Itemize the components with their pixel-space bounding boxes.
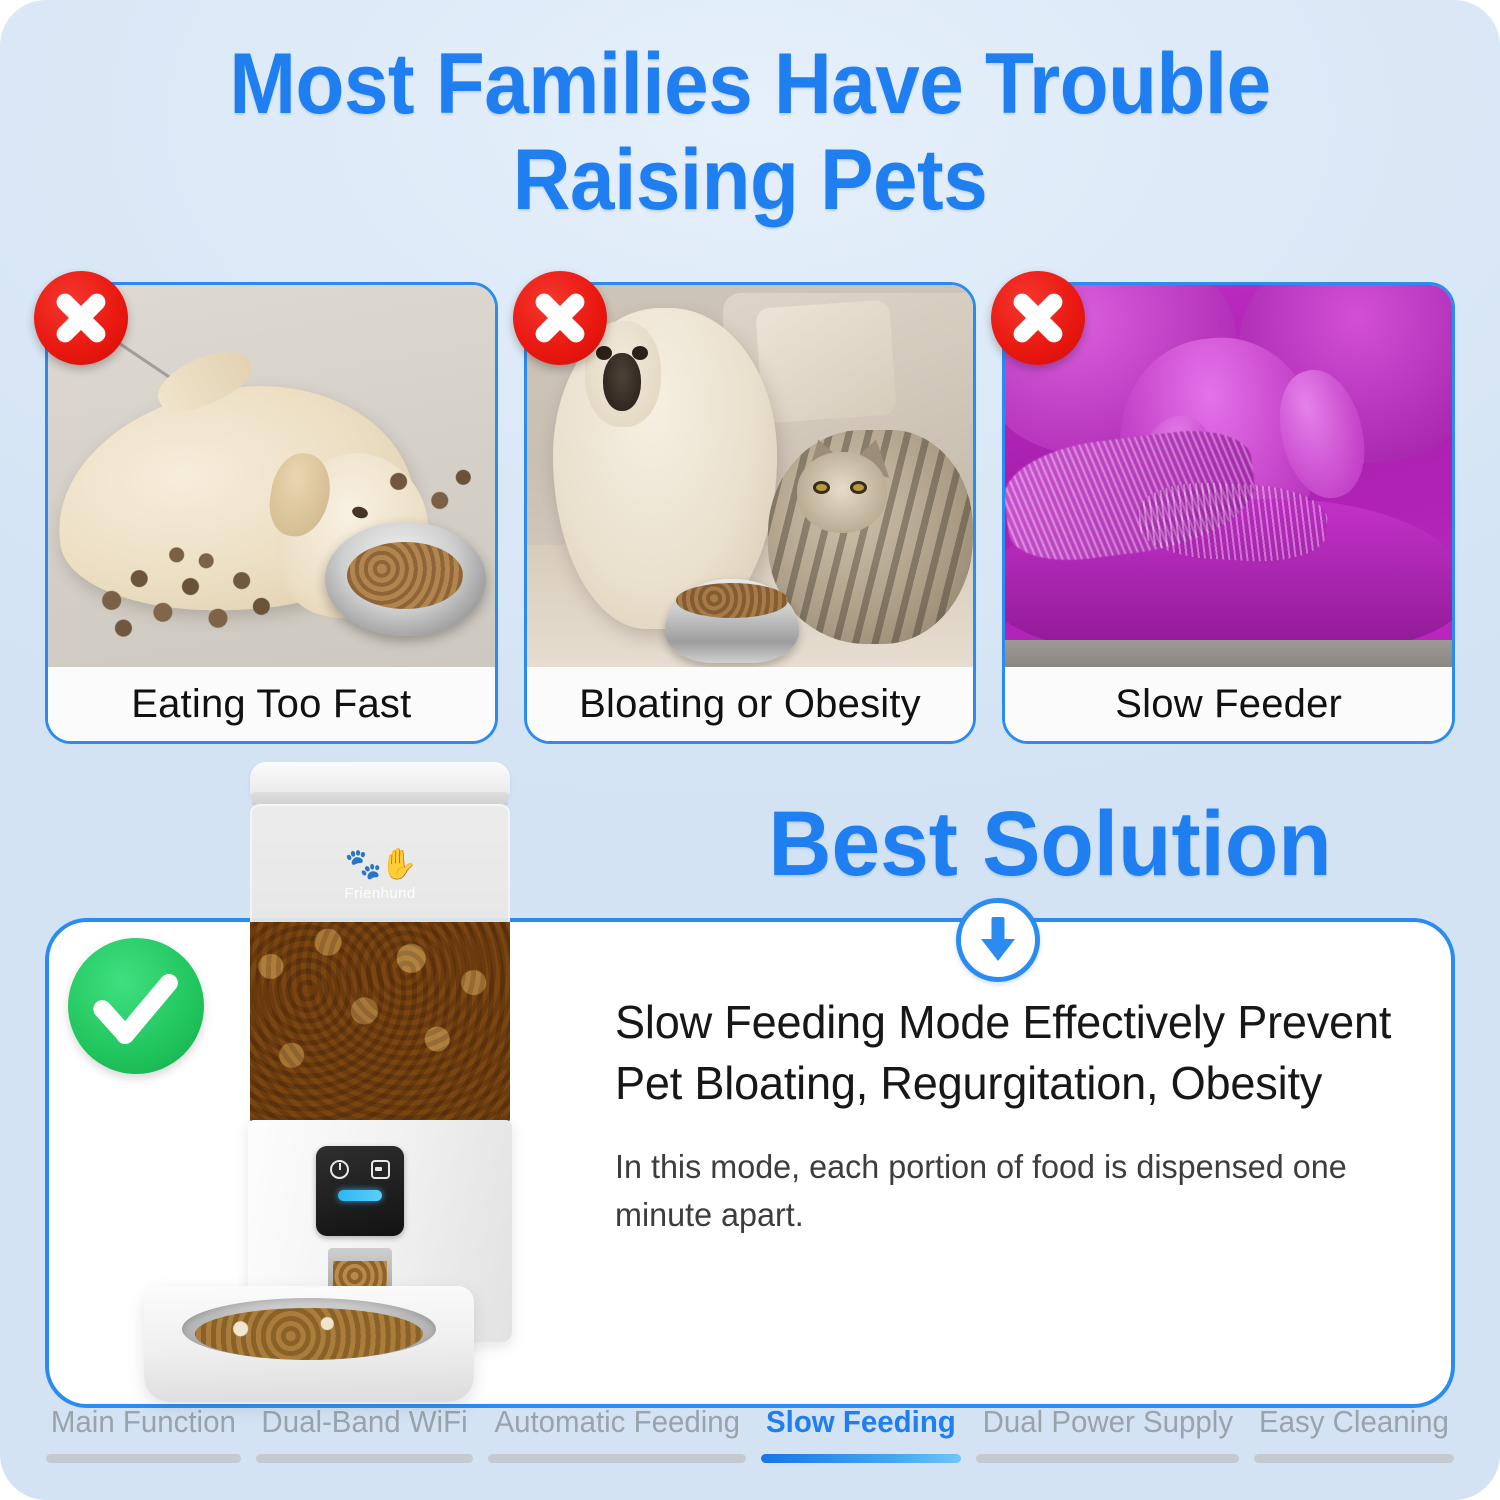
control-panel [316,1146,404,1236]
card-content: Eating Too Fast [48,285,495,741]
tab-underline-active [761,1454,961,1463]
led-indicator [338,1190,382,1201]
tab-automatic-feeding[interactable]: Automatic Feeding [488,1404,746,1463]
feeder-lid [250,762,510,796]
solution-text-block: Slow Feeding Mode Effectively Prevent Pe… [615,992,1435,1239]
spilled-kibble [88,541,285,640]
floor [1005,640,1452,667]
tab-underline [488,1454,746,1463]
spilled-kibble [379,461,477,530]
tab-label: Slow Feeding [766,1404,956,1440]
tab-label: Dual Power Supply [982,1404,1232,1440]
headline-line-2: Raising Pets [53,132,1448,228]
problem-card-bloating-or-obesity: Bloating or Obesity [524,282,977,744]
problem-card-eating-too-fast: Eating Too Fast [45,282,498,744]
stainless-steel-bowl [182,1298,436,1360]
tab-underline [1254,1454,1454,1463]
red-x-icon [513,271,607,365]
card-caption: Eating Too Fast [48,667,495,741]
tab-easy-cleaning[interactable]: Easy Cleaning [1254,1404,1454,1463]
tab-main-function[interactable]: Main Function [46,1404,241,1463]
tab-dual-power-supply[interactable]: Dual Power Supply [976,1404,1240,1463]
feature-tab-bar: Main Function Dual-Band WiFi Automatic F… [0,1404,1500,1486]
pug-muzzle [603,353,641,411]
paw-hand-icon: 🐾✋ [250,850,510,880]
headline-line-1: Most Families Have Trouble [229,36,1270,132]
card-caption: Slow Feeder [1005,667,1452,741]
down-arrow-icon [956,898,1040,982]
solution-description: In this mode, each portion of food is di… [615,1143,1419,1239]
tab-underline [46,1454,241,1463]
red-x-icon [991,271,1085,365]
tab-underline [256,1454,473,1463]
page-title: Most Families Have Trouble Raising Pets [53,36,1448,229]
problem-card-slow-feeder: Slow Feeder [1002,282,1455,744]
infographic-page: Most Families Have Trouble Raising Pets [0,0,1500,1500]
feed-icon[interactable] [371,1160,390,1179]
brand-logo: 🐾✋ Frienhund [250,850,510,902]
kibble-in-hopper [250,922,510,1124]
tab-underline [976,1454,1240,1463]
feeder-hopper: 🐾✋ Frienhund [250,804,510,1124]
card-content: Slow Feeder [1005,285,1452,741]
card-caption: Bloating or Obesity [527,667,974,741]
green-check-icon [68,938,204,1074]
cat-body [768,430,973,644]
brand-name: Frienhund [250,885,510,902]
arrow-head [981,939,1015,961]
tab-slow-feeding[interactable]: Slow Feeding [761,1404,961,1463]
cat-face [797,452,887,533]
problem-card-row: Eating Too Fast [45,282,1455,744]
sofa-cushion [755,300,897,424]
red-x-icon [34,271,128,365]
check-stroke-long [112,970,181,1047]
product-automatic-feeder: 🐾✋ Frienhund [130,762,570,1410]
best-solution-heading: Best Solution [642,798,1459,890]
steel-bowl [665,579,799,663]
feeder-bowl-base [144,1286,474,1402]
solution-title: Slow Feeding Mode Effectively Prevent Pe… [615,992,1419,1113]
steel-bowl [325,522,486,637]
tab-label: Easy Cleaning [1259,1404,1449,1440]
power-icon[interactable] [330,1160,349,1179]
tab-dual-band-wifi[interactable]: Dual-Band WiFi [256,1404,473,1463]
card-content: Bloating or Obesity [527,285,974,741]
